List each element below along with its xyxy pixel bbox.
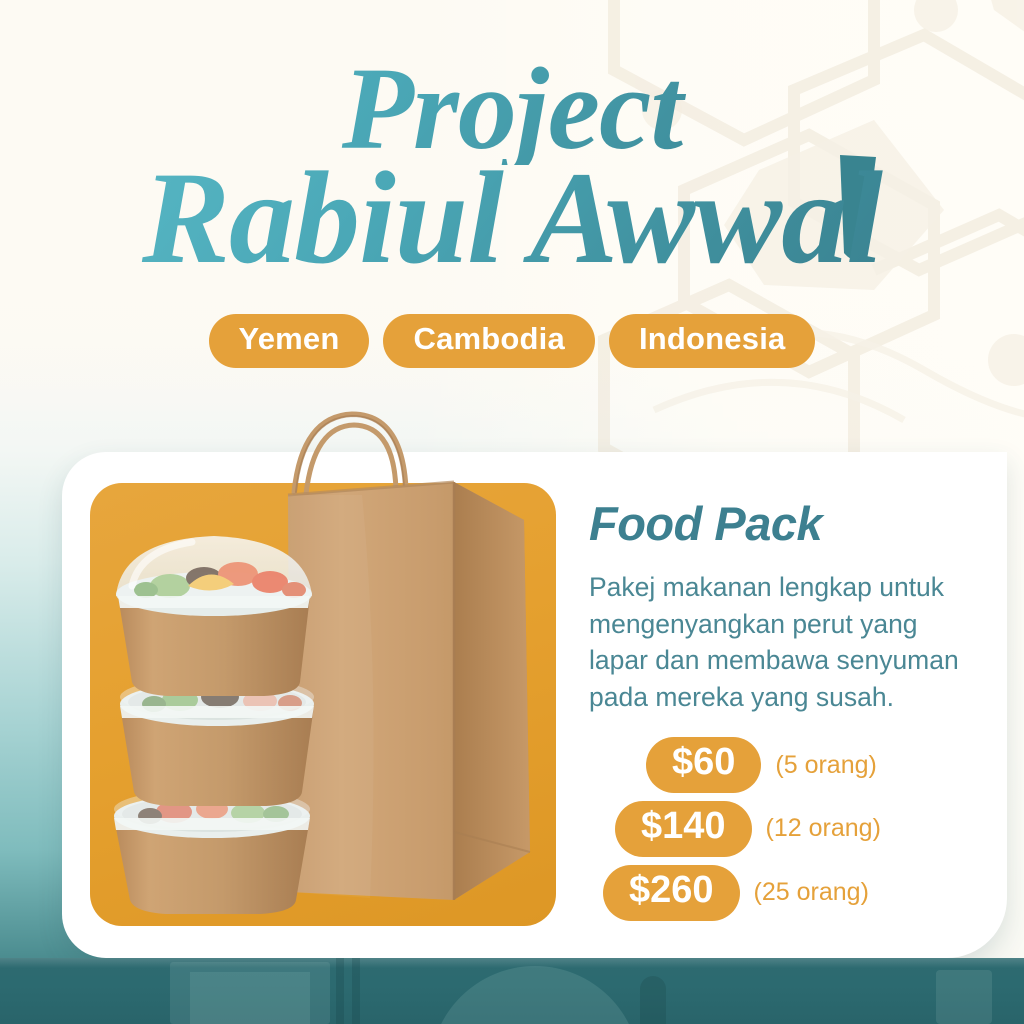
price-note-capacity: (5 orang) bbox=[775, 751, 876, 780]
band-sheen bbox=[0, 958, 1024, 968]
product-photo-panel bbox=[90, 483, 556, 926]
country-badge-cambodia[interactable]: Cambodia bbox=[383, 314, 594, 368]
card-content: Food Pack Pakej makanan lengkap untuk me… bbox=[589, 500, 989, 929]
column-silhouette bbox=[336, 958, 344, 1024]
price-pill-amount[interactable]: $260 bbox=[603, 865, 740, 921]
title-line-rabiul-awwal: Rabiul Awwal bbox=[0, 155, 1024, 282]
price-note-capacity: (12 orang) bbox=[766, 814, 881, 843]
poster-title: Project Rabiul Awwal bbox=[0, 52, 1024, 282]
column-silhouette bbox=[352, 958, 360, 1024]
price-pill-amount[interactable]: $140 bbox=[615, 801, 752, 857]
dome-silhouette bbox=[430, 966, 640, 1024]
arch-silhouette bbox=[936, 970, 992, 1024]
building-silhouette bbox=[190, 972, 310, 1024]
price-row[interactable]: $260 (25 orang) bbox=[589, 865, 989, 921]
price-note-capacity: (25 orang) bbox=[754, 878, 869, 907]
country-badge-row: Yemen Cambodia Indonesia bbox=[0, 314, 1024, 368]
minaret-silhouette bbox=[640, 976, 666, 1024]
country-badge-yemen[interactable]: Yemen bbox=[209, 314, 370, 368]
bottom-teal-band bbox=[0, 958, 1024, 1024]
country-badge-indonesia[interactable]: Indonesia bbox=[609, 314, 816, 368]
product-card: Food Pack Pakej makanan lengkap untuk me… bbox=[62, 452, 1007, 958]
price-row[interactable]: $60 (5 orang) bbox=[589, 737, 989, 793]
price-list: $60 (5 orang) $140 (12 orang) $260 (25 o… bbox=[589, 737, 989, 920]
price-row[interactable]: $140 (12 orang) bbox=[589, 801, 989, 857]
pack-title: Food Pack bbox=[589, 500, 989, 547]
pack-description: Pakej makanan lengkap untuk mengenyangka… bbox=[589, 569, 969, 715]
poster-canvas: Project Rabiul Awwal Yemen Cambodia Indo… bbox=[0, 0, 1024, 1024]
price-pill-amount[interactable]: $60 bbox=[646, 737, 761, 793]
